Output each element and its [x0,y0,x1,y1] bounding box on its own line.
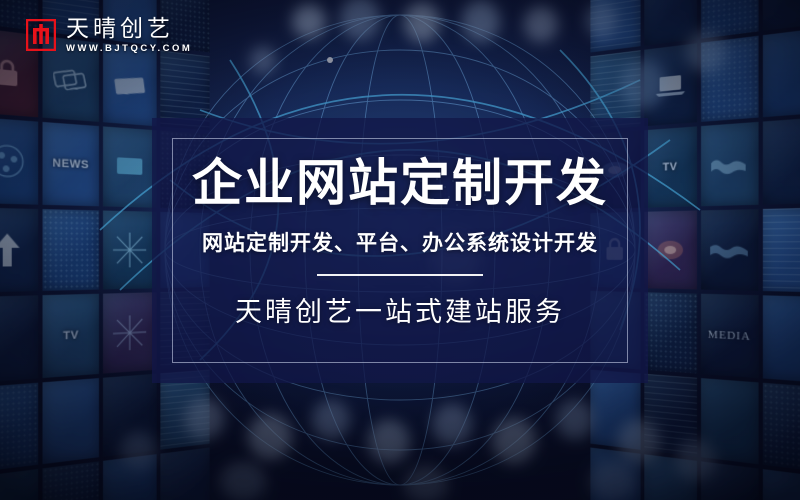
brand-logo[interactable]: 天晴创艺 WWW.BJTQCY.COM [26,16,192,54]
tianqing-logo-mark-icon [26,19,56,51]
headline-subtitle: 网站定制开发、平台、办公系统设计开发 [202,227,598,257]
logo-website-url: WWW.BJTQCY.COM [66,43,192,54]
logo-company-name: 天晴创艺 [66,16,192,40]
headline-title: 企业网站定制开发 [192,156,608,211]
headline-tagline: 天晴创艺一站式建站服务 [235,290,565,329]
headline-panel: 企业网站定制开发 网站定制开发、平台、办公系统设计开发 天晴创艺一站式建站服务 [152,118,648,383]
promo-banner: NEWS [0,0,800,500]
headline-divider [317,274,483,276]
